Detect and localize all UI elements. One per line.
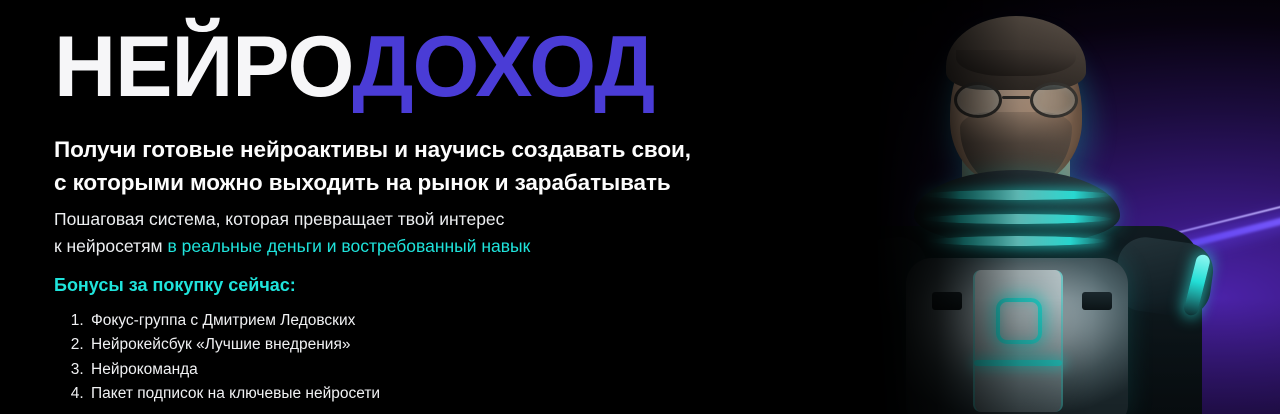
hero-subtitle: Получи готовые нейроактивы и научись соз… [54,134,691,199]
hero-description: Пошаговая система, которая превращает тв… [54,206,530,259]
headline-part-white: НЕЙРО [54,19,352,115]
subtitle-line-1: Получи готовые нейроактивы и научись соз… [54,134,691,167]
list-item: Нейрокейсбук «Лучшие внедрения» [88,333,380,357]
bonus-section-title: Бонусы за покупку сейчас: [54,275,296,296]
bonus-list: Фокус-группа с Дмитрием Ледовских Нейрок… [62,309,380,407]
list-item: Пакет подписок на ключевые нейросети [88,382,380,406]
description-plain: к нейросетям [54,236,167,256]
description-highlight: в реальные деньги и востребованный навык [167,236,530,256]
hero-artwork [760,0,1280,414]
list-item: Нейрокоманда [88,358,380,382]
description-line-2: к нейросетям в реальные деньги и востреб… [54,233,530,260]
list-item: Фокус-группа с Дмитрием Ледовских [88,309,380,333]
hero-banner: НЕЙРОДОХОД Получи готовые нейроактивы и … [0,0,1280,414]
subtitle-line-2: с которыми можно выходить на рынок и зар… [54,167,691,200]
page-title: НЕЙРОДОХОД [54,24,654,110]
description-line-1: Пошаговая система, которая превращает тв… [54,206,530,233]
headline-part-purple: ДОХОД [352,19,654,115]
artwork-left-fade [760,0,1280,414]
hero-content: НЕЙРОДОХОД Получи готовые нейроактивы и … [54,0,814,414]
